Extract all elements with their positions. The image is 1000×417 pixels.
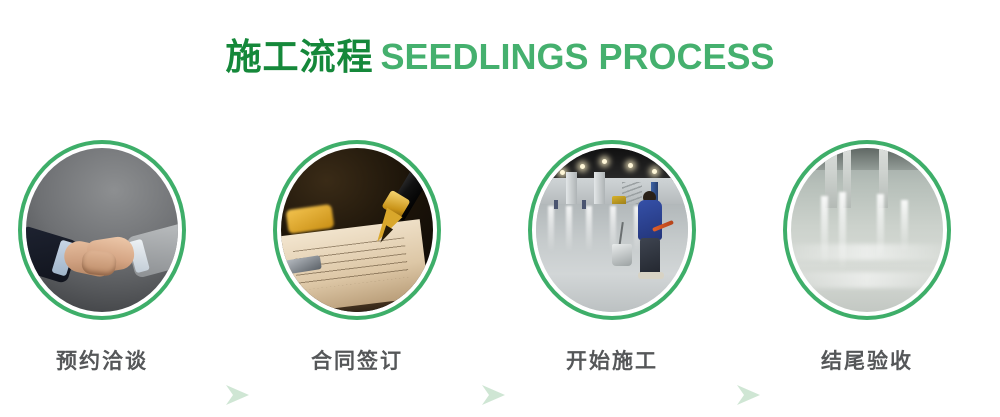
page-title-english: SEEDLINGS PROCESS bbox=[380, 36, 774, 77]
step-2-circle-frame bbox=[273, 140, 441, 320]
step-3-photo bbox=[536, 148, 688, 312]
process-step-3[interactable]: 开始施工 bbox=[528, 140, 696, 325]
step-1-label: 预约洽谈 bbox=[18, 345, 186, 375]
process-step-4[interactable]: 结尾验收 bbox=[783, 140, 951, 325]
step-4-label: 结尾验收 bbox=[783, 345, 951, 375]
page-title: 施工流程SEEDLINGS PROCESS bbox=[0, 28, 1000, 80]
construction-worker-icon bbox=[536, 148, 688, 312]
step-2-photo bbox=[281, 148, 433, 312]
chevron-right-icon bbox=[220, 378, 254, 412]
process-banner: 施工流程SEEDLINGS PROCESS 预约洽谈 bbox=[0, 0, 1000, 410]
step-1-circle-frame bbox=[18, 140, 186, 320]
process-step-1[interactable]: 预约洽谈 bbox=[18, 140, 186, 325]
step-3-label: 开始施工 bbox=[528, 345, 696, 375]
step-4-circle-frame bbox=[783, 140, 951, 320]
finished-floor-icon bbox=[791, 148, 943, 312]
fountain-pen-icon bbox=[281, 148, 433, 312]
process-steps: 预约洽谈 bbox=[0, 140, 1000, 325]
step-4-photo bbox=[791, 148, 943, 312]
chevron-right-icon bbox=[476, 378, 510, 412]
process-step-2[interactable]: 合同签订 bbox=[273, 140, 441, 325]
page-title-chinese: 施工流程 bbox=[225, 37, 373, 78]
chevron-right-icon bbox=[731, 378, 765, 412]
step-1-photo bbox=[26, 148, 178, 312]
step-3-circle-frame bbox=[528, 140, 696, 320]
step-2-label: 合同签订 bbox=[273, 345, 441, 375]
handshake-icon bbox=[26, 148, 178, 312]
